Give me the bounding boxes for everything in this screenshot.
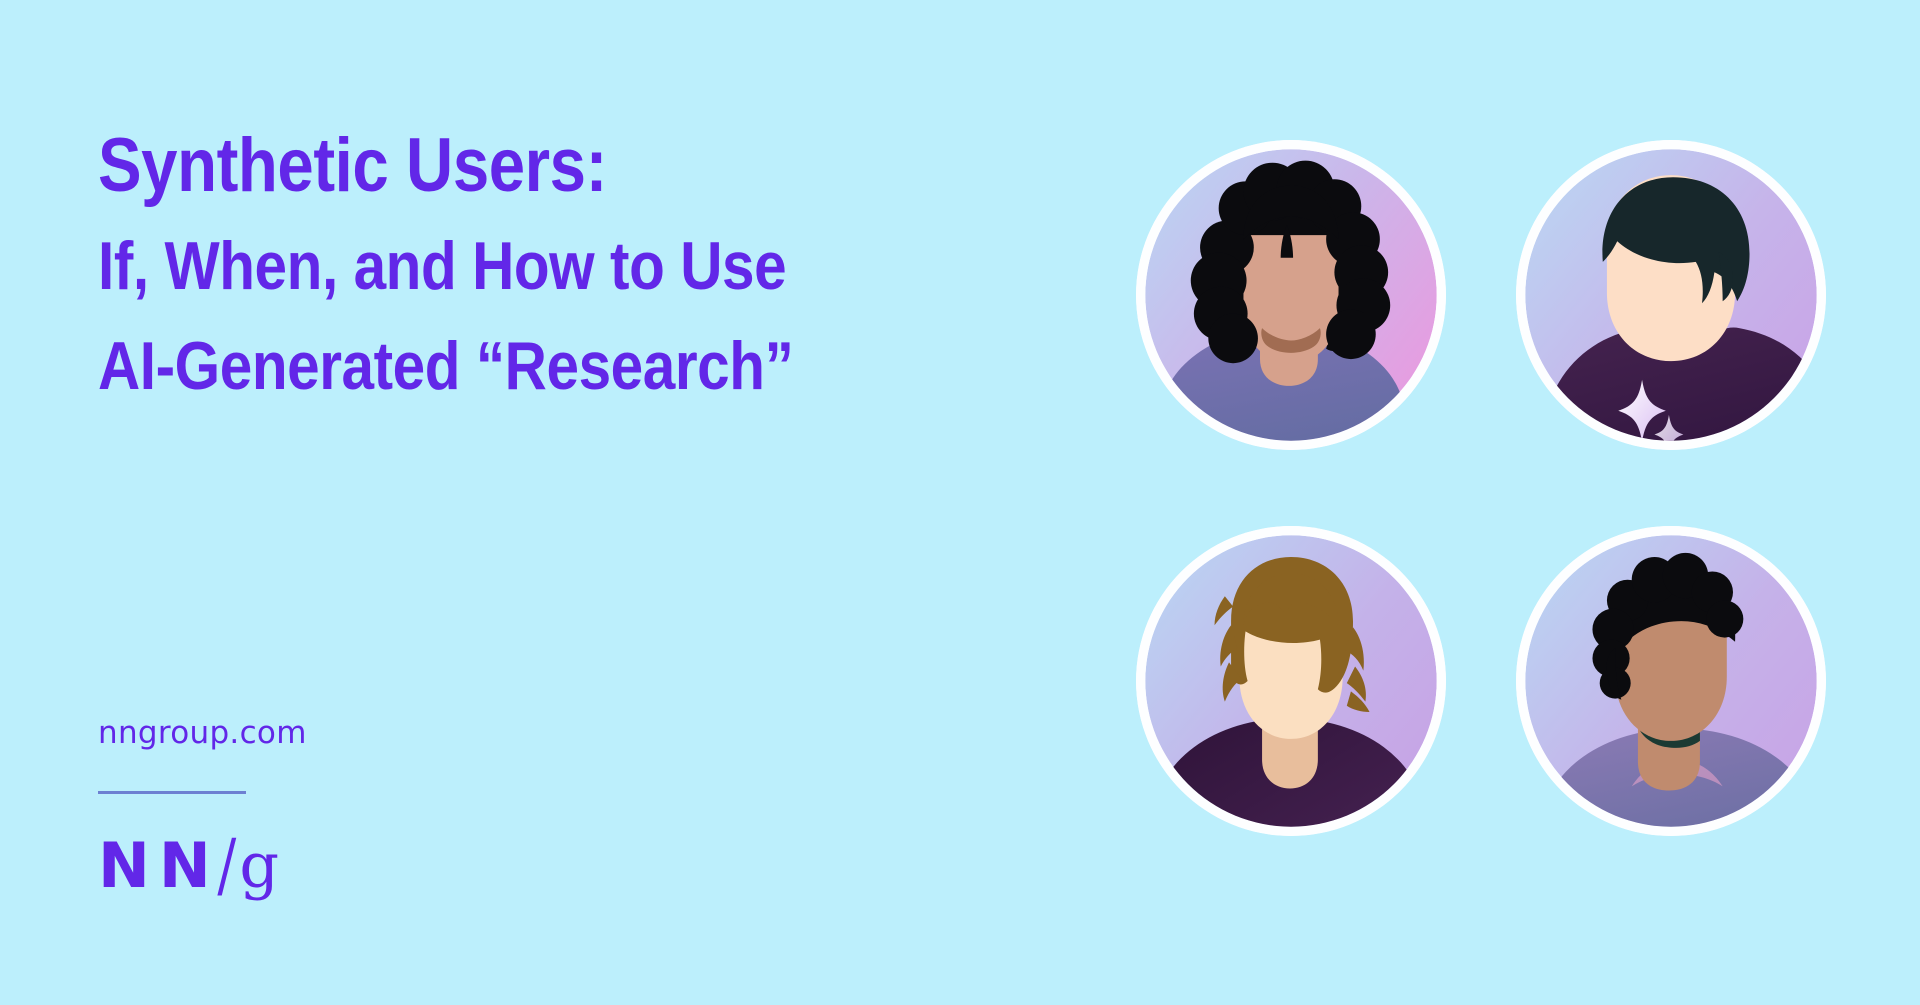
- avatar-illustration-3: [1136, 526, 1446, 836]
- avatar-curly-black-hair-woman: [1136, 140, 1446, 450]
- nng-logo-g: g: [239, 835, 279, 897]
- avatar-illustration-2: [1516, 140, 1826, 450]
- avatar-grid: [1136, 140, 1840, 856]
- avatar-short-dark-hair-man: [1516, 140, 1826, 450]
- brand-divider: [98, 791, 246, 794]
- headline-line-1: Synthetic Users:: [98, 128, 958, 204]
- headline-line-3: AI-Generated “Research”: [98, 332, 958, 400]
- nng-logo-slash: /: [217, 830, 236, 900]
- headline-line-2: If, When, and How to Use: [98, 232, 958, 300]
- avatar-illustration-1: [1136, 140, 1446, 450]
- site-url-text: nngroup.com: [98, 718, 307, 749]
- avatar-wavy-brown-hair-person: [1136, 526, 1446, 836]
- headline-block: Synthetic Users: If, When, and How to Us…: [98, 128, 1098, 400]
- avatar-illustration-4: [1516, 526, 1826, 836]
- brand-block: nngroup.com N N / g: [98, 718, 307, 898]
- nng-logo-n1: N: [98, 835, 150, 897]
- avatar-curly-hair-brown-skin-person: [1516, 526, 1826, 836]
- nng-logo: N N / g: [98, 828, 307, 898]
- poster-canvas: Synthetic Users: If, When, and How to Us…: [0, 0, 1920, 1005]
- nng-logo-n2: N: [159, 835, 211, 897]
